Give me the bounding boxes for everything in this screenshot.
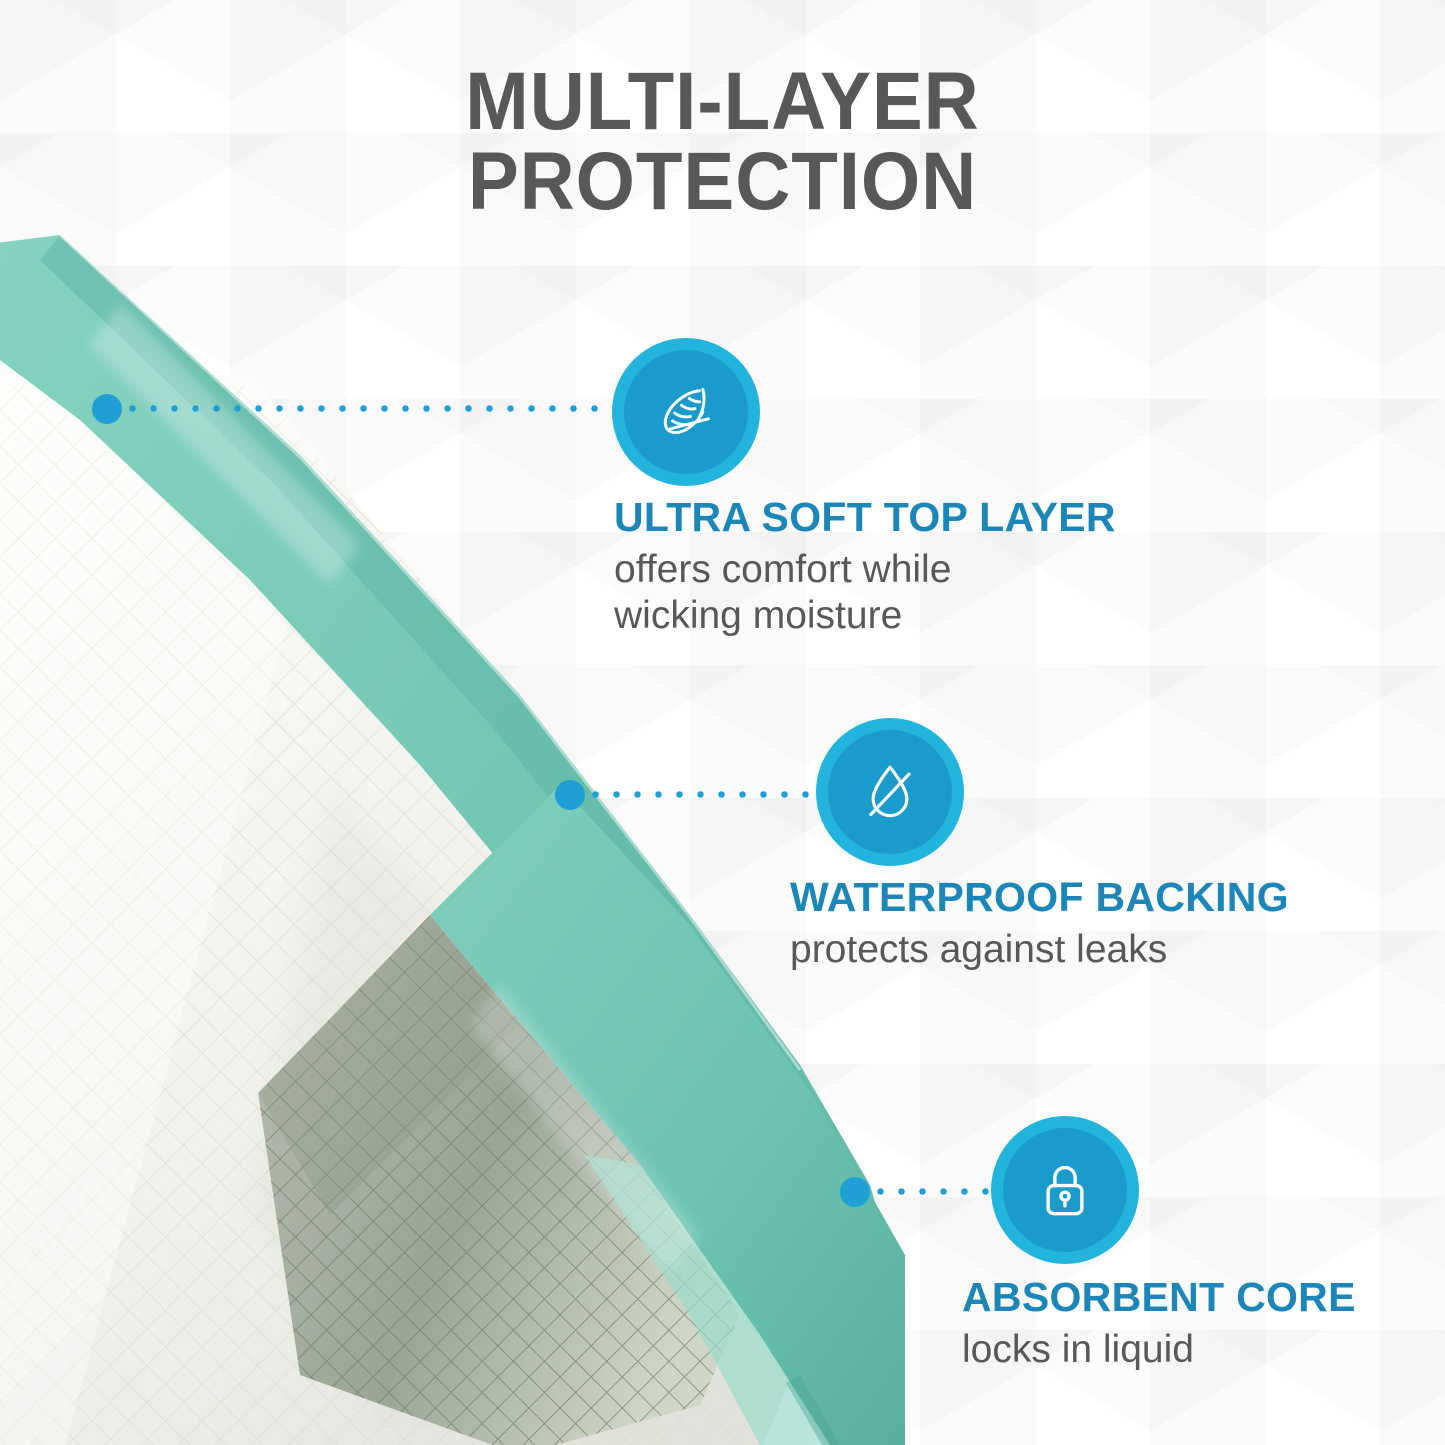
connector-dot-2 [555, 780, 585, 810]
connector-line-3 [870, 1188, 992, 1195]
feature-text-2: WATERPROOF BACKING protects against leak… [790, 875, 1445, 973]
connector-line-2 [585, 791, 817, 798]
feather-icon [650, 376, 722, 448]
page-title: MULTI-LAYER PROTECTION [51, 62, 1395, 223]
feature-text-1: ULTRA SOFT TOP LAYER offers comfort whil… [614, 495, 1354, 639]
infographic-canvas: MULTI-LAYER PROTECTION [0, 0, 1445, 1445]
feature-heading-3: ABSORBENT CORE [962, 1275, 1445, 1321]
feature-body-2: protects against leaks [790, 927, 1445, 973]
feature-body-3: locks in liquid [962, 1327, 1445, 1373]
feature-badge-2 [816, 718, 964, 866]
feature-badge-3 [991, 1116, 1139, 1264]
feature-text-3: ABSORBENT CORE locks in liquid [962, 1275, 1445, 1373]
feature-body-1: offers comfort while wicking moisture [614, 547, 1354, 639]
connector-dot-3 [840, 1177, 870, 1207]
lock-icon [1029, 1154, 1101, 1226]
feature-badge-1 [612, 338, 760, 486]
connector-dot-1 [92, 394, 122, 424]
no-water-drop-icon [854, 756, 926, 828]
feature-heading-2: WATERPROOF BACKING [790, 875, 1445, 921]
feature-heading-1: ULTRA SOFT TOP LAYER [614, 495, 1354, 541]
connector-line-1 [122, 405, 614, 412]
